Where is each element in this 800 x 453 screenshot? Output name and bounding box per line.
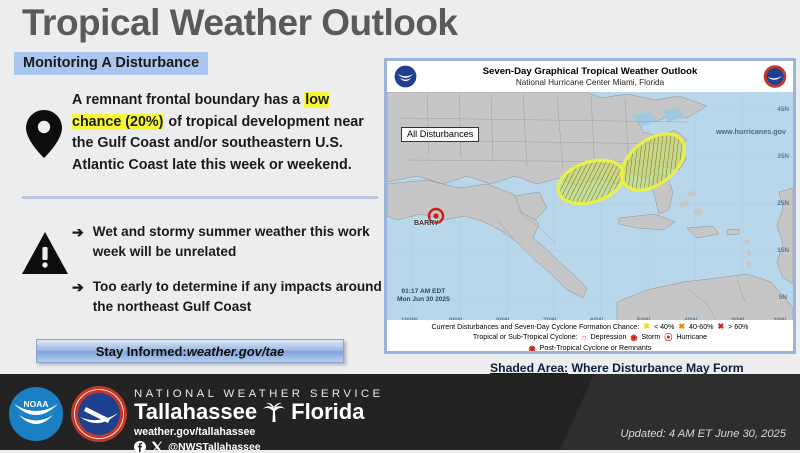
noaa-logo-icon: [394, 65, 417, 88]
lat-label-25n: 25N: [777, 200, 789, 207]
nws-seal-icon: [70, 385, 128, 443]
location-pin-icon: [26, 110, 62, 158]
noaa-logo-icon: NOAA: [8, 386, 64, 442]
legend-hurricane-icon: ⦿: [664, 333, 672, 344]
main-text-part1: A remnant frontal boundary has a: [72, 92, 304, 108]
legend-storm-icon: ◉: [630, 333, 637, 344]
footer-text-block: NATIONAL WEATHER SERVICE Tallahassee Flo…: [134, 388, 384, 453]
map-header-title: Seven-Day Graphical Tropical Weather Out…: [483, 66, 698, 77]
arrow-icon: ➔: [72, 277, 84, 318]
stay-informed-url[interactable]: weather.gov/tae: [187, 344, 285, 359]
footer-url[interactable]: weather.gov/tallahassee: [134, 426, 384, 438]
x-twitter-icon[interactable]: [151, 441, 163, 453]
tropical-outlook-map[interactable]: Seven-Day Graphical Tropical Weather Out…: [384, 58, 796, 354]
legend-x-mid-icon: ✖: [678, 322, 685, 333]
lat-label-15n: 15N: [777, 247, 789, 254]
stay-informed-label: Stay Informed:: [96, 344, 187, 359]
page-title: Tropical Weather Outlook: [22, 2, 458, 44]
lat-label-35n: 35N: [777, 153, 789, 160]
noaa-logo-text: NOAA: [23, 399, 48, 409]
stay-informed-banner[interactable]: Stay Informed: weather.gov/tae: [36, 339, 344, 363]
map-timestamp-date: Mon Jun 30 2025: [397, 296, 450, 304]
warning-triangle-icon: [22, 232, 68, 274]
hurricanes-website-label: www.hurricanes.gov: [716, 127, 786, 136]
bullet-text: Wet and stormy summer weather this work …: [93, 222, 382, 263]
legend-x-high-icon: ✖: [717, 322, 724, 333]
legend-x-low-icon: ✖: [643, 322, 650, 333]
map-caption-underline: Shaded Area:: [490, 361, 568, 375]
lat-label-5n: 5N: [779, 294, 787, 301]
legend-hurricane: Hurricane: [676, 333, 707, 343]
map-caption: Shaded Area: Where Disturbance May Form: [490, 361, 744, 375]
subtitle-banner: Monitoring A Disturbance: [14, 52, 208, 75]
nws-seal-icon: [763, 64, 787, 89]
legend-post-tropical: Post-Tropical Cyclone or Remnants: [540, 344, 652, 354]
footer-office-line: Tallahassee Florida: [134, 400, 384, 424]
legend-storm: Storm: [641, 333, 660, 343]
all-disturbances-label[interactable]: All Disturbances: [401, 127, 479, 142]
map-header-subtitle: National Hurricane Center Miami, Florida: [483, 78, 698, 87]
storm-label-barry: BARRY: [414, 220, 439, 227]
map-legend: Current Disturbances and Seven-Day Cyclo…: [387, 320, 793, 351]
footer-social-handle[interactable]: @NWSTallahassee: [168, 442, 261, 453]
map-timestamp: 01:17 AM EDT Mon Jun 30 2025: [397, 288, 450, 304]
palm-tree-icon: [262, 402, 286, 422]
bullet-text: Too early to determine if any impacts ar…: [93, 277, 382, 318]
list-item: ➔ Wet and stormy summer weather this wor…: [72, 222, 382, 263]
legend-depression-icon: ○: [582, 333, 587, 344]
map-caption-rest: Where Disturbance May Form: [568, 361, 743, 375]
legend-chance-mid: 40-60%: [689, 323, 713, 333]
facebook-icon[interactable]: [134, 441, 146, 453]
legend-post-tropical-icon: ◉: [529, 344, 536, 354]
section-divider: [22, 196, 378, 199]
bullet-list: ➔ Wet and stormy summer weather this wor…: [72, 222, 382, 332]
main-description: A remnant frontal boundary has a low cha…: [72, 90, 380, 177]
footer-office-city: Tallahassee: [134, 400, 257, 424]
legend-chance-high: > 60%: [728, 323, 748, 333]
legend-depression: Depression: [591, 333, 627, 343]
map-timestamp-time: 01:17 AM EDT: [397, 288, 450, 296]
arrow-icon: ➔: [72, 222, 84, 263]
list-item: ➔ Too early to determine if any impacts …: [72, 277, 382, 318]
legend-cyclone-label: Tropical or Sub-Tropical Cyclone:: [473, 333, 578, 343]
updated-timestamp: Updated: 4 AM ET June 30, 2025: [620, 428, 786, 440]
map-header: Seven-Day Graphical Tropical Weather Out…: [387, 61, 793, 92]
legend-chance-low: < 40%: [654, 323, 674, 333]
lat-label-45n: 45N: [777, 106, 789, 113]
footer-social: @NWSTallahassee: [134, 441, 384, 453]
footer-office-state: Florida: [291, 400, 364, 424]
footer-banner: NOAA NATIONAL WEATHER SERVICE Tallahasse…: [0, 374, 800, 450]
legend-formation-label: Current Disturbances and Seven-Day Cyclo…: [432, 323, 640, 333]
map-canvas[interactable]: All Disturbances www.hurricanes.gov BARR…: [387, 92, 793, 326]
